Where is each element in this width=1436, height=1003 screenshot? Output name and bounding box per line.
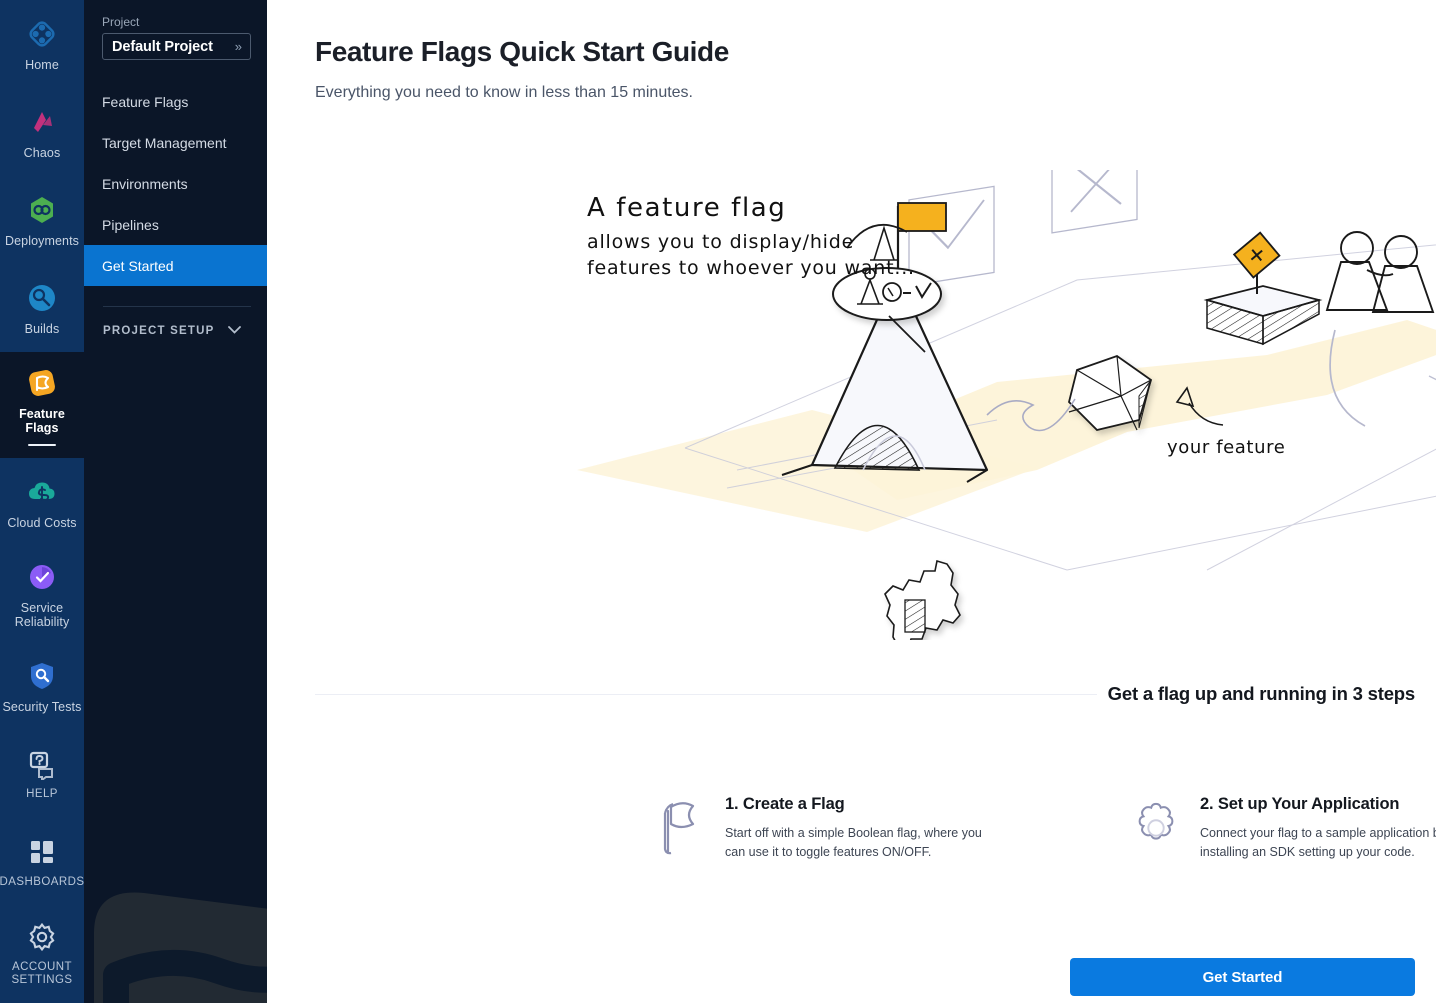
gear-icon xyxy=(25,920,59,954)
caption-line-3: features to whoever you want... xyxy=(587,257,915,279)
gear-sketch xyxy=(885,561,960,640)
rail-item-label: Feature Flags xyxy=(2,407,82,436)
feature-flag-sketch: A feature flag allows you to display/hid… xyxy=(567,170,1436,640)
rail-item-label: Chaos xyxy=(24,146,61,160)
flag-outline-icon xyxy=(655,795,707,855)
sidebar-item-pipelines[interactable]: Pipelines xyxy=(84,204,267,245)
steps-list: 1. Create a FlagStart off with a simple … xyxy=(655,795,1436,863)
section-divider xyxy=(315,694,1097,695)
project-setup-section[interactable]: PROJECT SETUP xyxy=(84,307,267,337)
primary-nav-rail: HomeChaosDeploymentsBuildsFeature FlagsC… xyxy=(0,0,84,1003)
small-cone xyxy=(870,228,898,260)
people-pushing xyxy=(1327,232,1433,312)
rail-item-account-settings[interactable]: ACCOUNT SETTINGS xyxy=(0,906,84,999)
project-selector[interactable]: Default Project » xyxy=(102,33,251,60)
project-nav-list: Feature FlagsTarget ManagementEnvironmen… xyxy=(84,81,267,286)
hero-illustration: A feature flag allows you to display/hid… xyxy=(567,170,1436,640)
project-label: Project xyxy=(84,10,267,33)
rail-item-deployments[interactable]: Deployments xyxy=(0,176,84,264)
rail-item-label: Cloud Costs xyxy=(7,516,76,530)
rail-item-label: ACCOUNT SETTINGS xyxy=(2,961,82,987)
rail-item-label: Security Tests xyxy=(3,700,82,714)
your-feature-text: your feature xyxy=(1167,437,1285,458)
rail-item-label: Home xyxy=(25,58,59,72)
rail-item-cloud-costs[interactable]: Cloud Costs xyxy=(0,458,84,546)
rail-item-label: Builds xyxy=(25,322,60,336)
chevron-down-icon xyxy=(228,325,241,337)
builds-icon xyxy=(25,281,59,315)
app-root: HomeChaosDeploymentsBuildsFeature FlagsC… xyxy=(0,0,1436,1003)
illustration-caption: A feature flag allows you to display/hid… xyxy=(587,193,915,279)
sidebar-item-label: Get Started xyxy=(102,258,174,274)
sidebar-item-label: Pipelines xyxy=(102,217,159,233)
cloud-costs-icon xyxy=(25,475,59,509)
deployments-icon xyxy=(25,193,59,227)
rail-item-feature-flags[interactable]: Feature Flags xyxy=(0,352,84,458)
platform-plus xyxy=(1207,233,1319,344)
sidebar-item-label: Environments xyxy=(102,176,188,192)
step-description: Start off with a simple Boolean flag, wh… xyxy=(725,824,993,863)
step-card[interactable]: 2. Set up Your ApplicationConnect your f… xyxy=(1130,795,1436,863)
flag-watermark-icon xyxy=(84,793,267,1003)
rail-item-help[interactable]: HELP xyxy=(0,730,84,818)
step-title: 2. Set up Your Application xyxy=(1200,795,1436,814)
project-setup-label: PROJECT SETUP xyxy=(103,325,214,337)
sidebar-item-environments[interactable]: Environments xyxy=(84,163,267,204)
steps-heading: Get a flag up and running in 3 steps xyxy=(1108,683,1415,705)
rail-item-label: DASHBOARDS xyxy=(0,876,84,889)
dashboards-icon xyxy=(25,835,59,869)
rail-item-label: Deployments xyxy=(5,234,79,248)
sidebar-item-label: Feature Flags xyxy=(102,94,188,110)
rail-item-dashboards[interactable]: DASHBOARDS xyxy=(0,818,84,906)
cross-frame xyxy=(1052,170,1137,233)
step-description: Connect your flag to a sample applicatio… xyxy=(1200,824,1436,863)
active-indicator xyxy=(28,444,56,446)
page-title: Feature Flags Quick Start Guide xyxy=(315,36,729,68)
feature-flags-icon xyxy=(25,366,59,400)
rail-item-label: HELP xyxy=(26,788,58,801)
rail-item-label: Service Reliability xyxy=(2,601,82,630)
check-frame xyxy=(909,186,994,285)
main-content: Feature Flags Quick Start Guide Everythi… xyxy=(267,0,1436,1003)
get-started-button[interactable]: Get Started xyxy=(1070,958,1415,996)
service-reliability-icon xyxy=(25,560,59,594)
sidebar-item-label: Target Management xyxy=(102,135,227,151)
gear-outline-icon xyxy=(1130,795,1182,855)
rail-item-chaos[interactable]: Chaos xyxy=(0,88,84,176)
help-icon xyxy=(25,747,59,781)
security-tests-icon xyxy=(25,659,59,693)
caption-line-2: allows you to display/hide xyxy=(587,231,854,253)
sidebar-item-get-started[interactable]: Get Started xyxy=(84,245,267,286)
chevron-double-right-icon: » xyxy=(235,39,243,54)
project-nav-sidebar: Project Default Project » Feature FlagsT… xyxy=(84,0,267,1003)
sidebar-item-target-management[interactable]: Target Management xyxy=(84,122,267,163)
project-selector-value: Default Project xyxy=(112,39,213,55)
chaos-icon xyxy=(25,105,59,139)
rail-item-home[interactable]: Home xyxy=(0,0,84,88)
rail-item-security-tests[interactable]: Security Tests xyxy=(0,642,84,730)
rail-item-builds[interactable]: Builds xyxy=(0,264,84,352)
step-card[interactable]: 1. Create a FlagStart off with a simple … xyxy=(655,795,1130,863)
home-diamond-icon xyxy=(25,17,59,51)
step-title: 1. Create a Flag xyxy=(725,795,993,814)
sidebar-item-feature-flags[interactable]: Feature Flags xyxy=(84,81,267,122)
rail-item-service-reliability[interactable]: Service Reliability xyxy=(0,546,84,642)
page-subtitle: Everything you need to know in less than… xyxy=(315,84,693,102)
caption-title: A feature flag xyxy=(587,193,786,223)
